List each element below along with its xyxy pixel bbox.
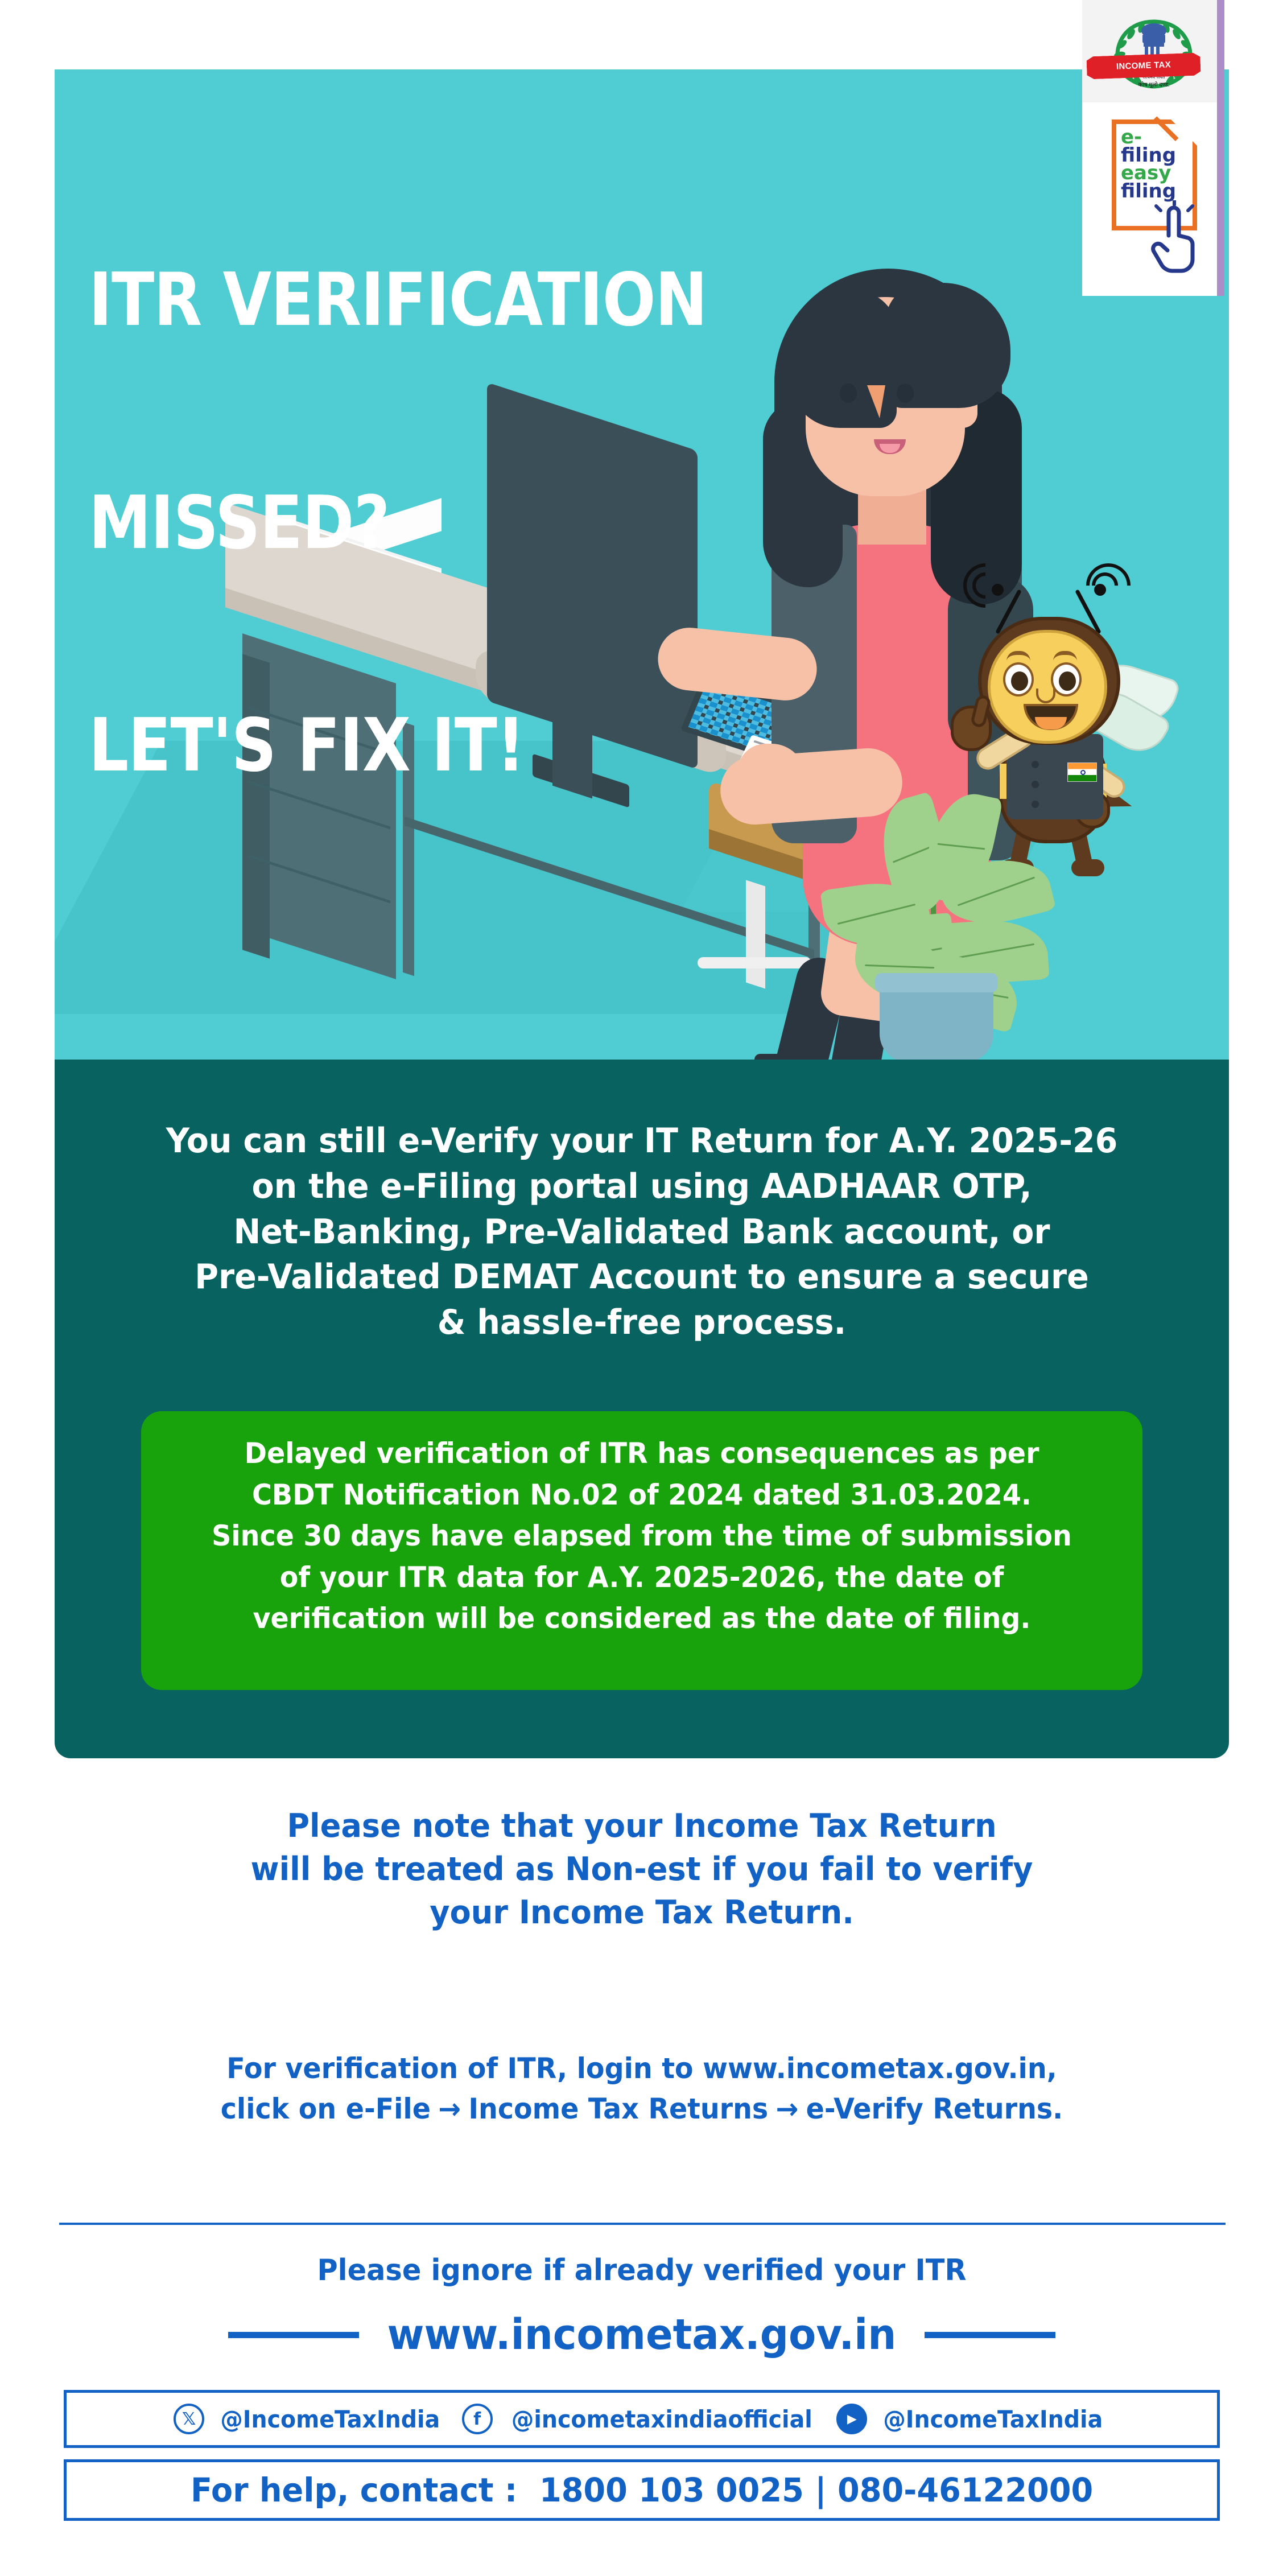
login-instructions: For verification of ITR, login to www.in… — [84, 2049, 1200, 2129]
ashoka-chakra-icon — [1080, 770, 1086, 775]
social-handle-x[interactable]: @IncomeTaxIndia — [220, 2405, 440, 2433]
title-line-1: ITR VERIFICATION — [89, 263, 707, 338]
title-line-2: MISSED? — [89, 487, 707, 561]
menu-path-itr: Income Tax Returns — [468, 2092, 768, 2125]
ignore-notice-text: Please ignore if already verified your I… — [84, 2253, 1200, 2288]
rule-right — [925, 2332, 1055, 2338]
page-title: ITR VERIFICATION MISSED? LET'S FIX IT! — [89, 115, 707, 932]
bee-pupil-right — [1059, 671, 1076, 691]
menu-path-everify: e-Verify Returns. — [806, 2092, 1063, 2125]
bee-foot-right — [1071, 859, 1104, 876]
social-item-facebook[interactable]: f @incometaxindiaofficial — [462, 2404, 822, 2434]
login-line-1: For verification of ITR, login to www.in… — [84, 2049, 1200, 2089]
website-row: www.incometax.gov.in — [55, 2310, 1229, 2359]
help-contact-text: For help, contact : 1800 103 0025 | 080-… — [191, 2471, 1093, 2509]
section-divider — [59, 2223, 1226, 2225]
non-est-warning-text: Please note that your Income Tax Return … — [84, 1805, 1200, 1934]
login-line-2: click on e-File→Income Tax Returns→e-Ver… — [84, 2089, 1200, 2129]
warning-line: Please note that your Income Tax Return — [84, 1805, 1200, 1848]
cbdt-notice-text: Delayed verification of ITR has conseque… — [190, 1433, 1094, 1639]
everify-intro-text: You can still e-Verify your IT Return fo… — [122, 1119, 1162, 1346]
notice-line: of your ITR data for A.Y. 2025-2026, the… — [190, 1557, 1094, 1598]
svg-text:कोष मूलो दण्ड:: कोष मूलो दण्ड: — [1138, 81, 1169, 88]
social-item-x[interactable]: 𝕏 @IncomeTaxIndia — [174, 2404, 447, 2434]
antenna-tip-right — [1094, 584, 1106, 596]
intro-line: on the e-Filing portal using AADHAAR OTP… — [122, 1164, 1162, 1210]
efiling-line-2: filing — [1121, 147, 1176, 165]
arrow-right-icon: → — [768, 2092, 806, 2125]
cbdt-notice-box: Delayed verification of ITR has conseque… — [141, 1411, 1142, 1690]
intro-line: You can still e-Verify your IT Return fo… — [122, 1119, 1162, 1164]
emblem-zone: सत्यमेव जयते कोष मूलो दण्ड: INCOME TAX D… — [1082, 0, 1217, 102]
potted-plant — [800, 792, 1073, 1060]
department-logo-card: सत्यमेव जयते कोष मूलो दण्ड: INCOME TAX D… — [1082, 0, 1224, 296]
vest-button — [1032, 781, 1039, 788]
youtube-icon[interactable]: ▶ — [836, 2404, 867, 2434]
social-item-youtube[interactable]: ▶ @IncomeTaxIndia — [836, 2404, 1110, 2434]
eye-left — [840, 384, 857, 403]
department-ribbon: INCOME TAX DEPARTMENT — [1086, 53, 1201, 80]
hero-illustration-panel: ITR VERIFICATION MISSED? LET'S FIX IT! — [55, 69, 1229, 1060]
itr-verification-poster: ITR VERIFICATION MISSED? LET'S FIX IT! — [0, 0, 1283, 2576]
social-media-bar: 𝕏 @IncomeTaxIndia f @incometaxindiaoffic… — [64, 2390, 1220, 2448]
intro-line: Net-Banking, Pre-Validated Bank account,… — [122, 1210, 1162, 1255]
social-handle-facebook[interactable]: @incometaxindiaofficial — [511, 2405, 812, 2433]
plant-pot-rim — [875, 973, 998, 992]
intro-line: Pre-Validated DEMAT Account to ensure a … — [122, 1255, 1162, 1300]
help-label: For help, contact : — [191, 2471, 517, 2509]
social-handle-youtube[interactable]: @IncomeTaxIndia — [884, 2405, 1103, 2433]
nose — [867, 385, 885, 418]
help-contact-bar: For help, contact : 1800 103 0025 | 080-… — [64, 2459, 1220, 2521]
hand — [737, 744, 806, 806]
intro-line: & hassle-free process. — [122, 1300, 1162, 1346]
notice-line: CBDT Notification No.02 of 2024 dated 31… — [190, 1474, 1094, 1516]
warning-line: will be treated as Non-est if you fail t… — [84, 1848, 1200, 1891]
notice-line: Since 30 days have elapsed from the time… — [190, 1515, 1094, 1557]
menu-path-efile: click on e-File — [221, 2092, 431, 2125]
vest-button — [1032, 761, 1039, 768]
x-twitter-icon[interactable]: 𝕏 — [174, 2404, 204, 2434]
efiling-wordmark: e- filing easy filing — [1121, 129, 1188, 183]
title-line-3: LET'S FIX IT! — [89, 709, 707, 784]
notice-line: verification will be considered as the d… — [190, 1598, 1094, 1639]
help-numbers[interactable]: 1800 103 0025 | 080-46122000 — [539, 2471, 1093, 2509]
eye-right — [897, 384, 914, 403]
facebook-icon[interactable]: f — [462, 2404, 493, 2434]
antenna-tip-left — [992, 584, 1004, 596]
pointer-hand-icon — [1149, 200, 1204, 274]
website-link[interactable]: www.incometax.gov.in — [387, 2310, 897, 2359]
notice-line: Delayed verification of ITR has conseque… — [190, 1433, 1094, 1474]
rule-left — [228, 2332, 359, 2338]
warning-line: your Income Tax Return. — [84, 1891, 1200, 1935]
bee-pupil-left — [1011, 671, 1028, 691]
arrow-right-icon: → — [431, 2092, 468, 2125]
efiling-line-4: filing — [1121, 183, 1176, 201]
